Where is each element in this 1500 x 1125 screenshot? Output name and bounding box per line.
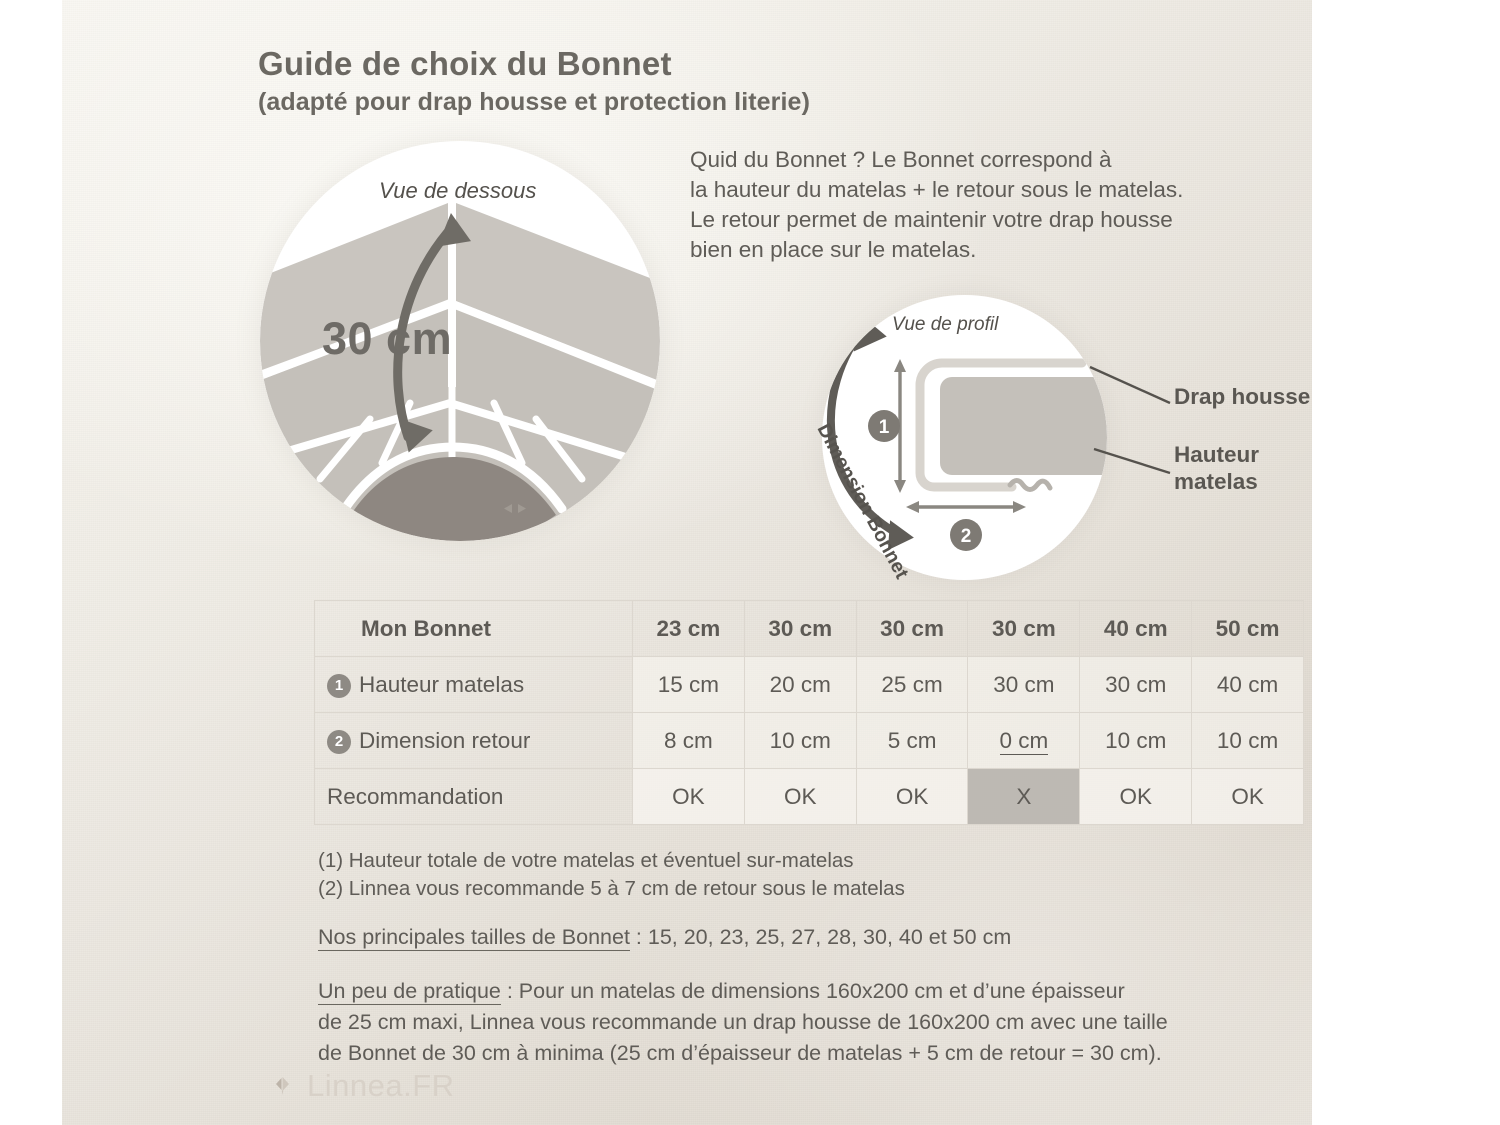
practice-text-1: : Pour un matelas de dimensions 160x200 … — [501, 979, 1125, 1003]
cell-retour-1: 8 cm — [633, 713, 745, 769]
footnotes-block: (1) Hauteur totale de votre matelas et é… — [318, 847, 1312, 1069]
bonnet-table: Mon Bonnet 23 cm 30 cm 30 cm 30 cm 40 cm… — [314, 600, 1304, 825]
callout-hauteur-line-1: Hauteur — [1174, 441, 1259, 468]
cell-retour-4: 0 cm — [968, 713, 1080, 769]
footnote-1: (1) Hauteur totale de votre matelas et é… — [318, 847, 1312, 875]
table-row-dimension-retour: 2Dimension retour 8 cm 10 cm 5 cm 0 cm 1… — [315, 713, 1304, 769]
cell-reco-4-not-recommended: X — [968, 769, 1080, 825]
badge-1-icon: 1 — [327, 674, 351, 698]
cell-reco-5: OK — [1080, 769, 1192, 825]
practice-line-1: Un peu de pratique : Pour un matelas de … — [318, 976, 1312, 1007]
cell-bonnet-5: 40 cm — [1080, 601, 1192, 657]
svg-text:1: 1 — [879, 417, 890, 438]
intro-line-2: la hauteur du matelas + le retour sous l… — [690, 175, 1290, 205]
callout-hauteur-matelas: Hauteur matelas — [1174, 441, 1259, 495]
row-label-mon-bonnet: Mon Bonnet — [315, 601, 633, 657]
callout-drap-housse: Drap housse — [1174, 383, 1310, 410]
cell-hauteur-1: 15 cm — [633, 657, 745, 713]
cell-bonnet-3: 30 cm — [856, 601, 968, 657]
cell-bonnet-1: 23 cm — [633, 601, 745, 657]
intro-line-1: Quid du Bonnet ? Le Bonnet correspond à — [690, 145, 1290, 175]
sizes-value: : 15, 20, 23, 25, 27, 28, 30, 40 et 50 c… — [630, 925, 1011, 949]
poster-background: Guide de choix du Bonnet (adapté pour dr… — [62, 0, 1312, 1125]
cell-bonnet-6: 50 cm — [1192, 601, 1304, 657]
row-label-hauteur-matelas: 1Hauteur matelas — [315, 657, 633, 713]
cell-retour-6: 10 cm — [1192, 713, 1304, 769]
cell-hauteur-5: 30 cm — [1080, 657, 1192, 713]
badge-2-icon: 2 — [327, 730, 351, 754]
practice-block: Un peu de pratique : Pour un matelas de … — [318, 976, 1312, 1069]
row-label-dimension-retour: 2Dimension retour — [315, 713, 633, 769]
cell-bonnet-2: 30 cm — [744, 601, 856, 657]
linnea-diamond-icon — [270, 1073, 296, 1099]
top-view-label: Vue de dessous — [379, 178, 536, 204]
logo-text: Linnea.FR — [307, 1068, 455, 1104]
table-row-recommandation: Recommandation OK OK OK X OK OK — [315, 769, 1304, 825]
svg-text:2: 2 — [961, 526, 972, 547]
sizes-label: Nos principales tailles de Bonnet — [318, 925, 630, 951]
cell-reco-1: OK — [633, 769, 745, 825]
cell-hauteur-4: 30 cm — [968, 657, 1080, 713]
footnote-2: (2) Linnea vous recommande 5 à 7 cm de r… — [318, 875, 1312, 903]
cell-bonnet-4: 30 cm — [968, 601, 1080, 657]
row-label-retour-text: Dimension retour — [359, 728, 530, 753]
bonnet-measure-label: 30 cm — [322, 313, 452, 365]
profile-view-label: Vue de profil — [892, 314, 998, 336]
callout-hauteur-line-2: matelas — [1174, 468, 1259, 495]
page-subtitle: (adapté pour drap housse et protection l… — [258, 88, 1158, 117]
cell-reco-3: OK — [856, 769, 968, 825]
cell-hauteur-2: 20 cm — [744, 657, 856, 713]
linnea-logo[interactable]: Linnea.FR — [270, 1068, 455, 1104]
cell-retour-4-value: 0 cm — [1000, 728, 1049, 755]
practice-label: Un peu de pratique — [318, 979, 501, 1005]
cell-reco-2: OK — [744, 769, 856, 825]
sizes-line: Nos principales tailles de Bonnet : 15, … — [318, 925, 1312, 950]
poster-canvas: Guide de choix du Bonnet (adapté pour dr… — [0, 0, 1500, 1125]
cell-retour-5: 10 cm — [1080, 713, 1192, 769]
table-row-hauteur-matelas: 1Hauteur matelas 15 cm 20 cm 25 cm 30 cm… — [315, 657, 1304, 713]
table-row-mon-bonnet: Mon Bonnet 23 cm 30 cm 30 cm 30 cm 40 cm… — [315, 601, 1304, 657]
intro-line-3: Le retour permet de maintenir votre drap… — [690, 205, 1290, 235]
intro-paragraph: Quid du Bonnet ? Le Bonnet correspond à … — [690, 145, 1290, 265]
cell-retour-3: 5 cm — [856, 713, 968, 769]
cell-hauteur-6: 40 cm — [1192, 657, 1304, 713]
row-label-recommandation: Recommandation — [315, 769, 633, 825]
row-label-hauteur-text: Hauteur matelas — [359, 672, 524, 697]
practice-line-3: de Bonnet de 30 cm à minima (25 cm d’épa… — [318, 1038, 1312, 1069]
practice-line-2: de 25 cm maxi, Linnea vous recommande un… — [318, 1007, 1312, 1038]
cell-reco-6: OK — [1192, 769, 1304, 825]
cell-hauteur-3: 25 cm — [856, 657, 968, 713]
intro-line-4: bien en place sur le matelas. — [690, 235, 1290, 265]
cell-retour-2: 10 cm — [744, 713, 856, 769]
page-title: Guide de choix du Bonnet — [258, 45, 1158, 83]
